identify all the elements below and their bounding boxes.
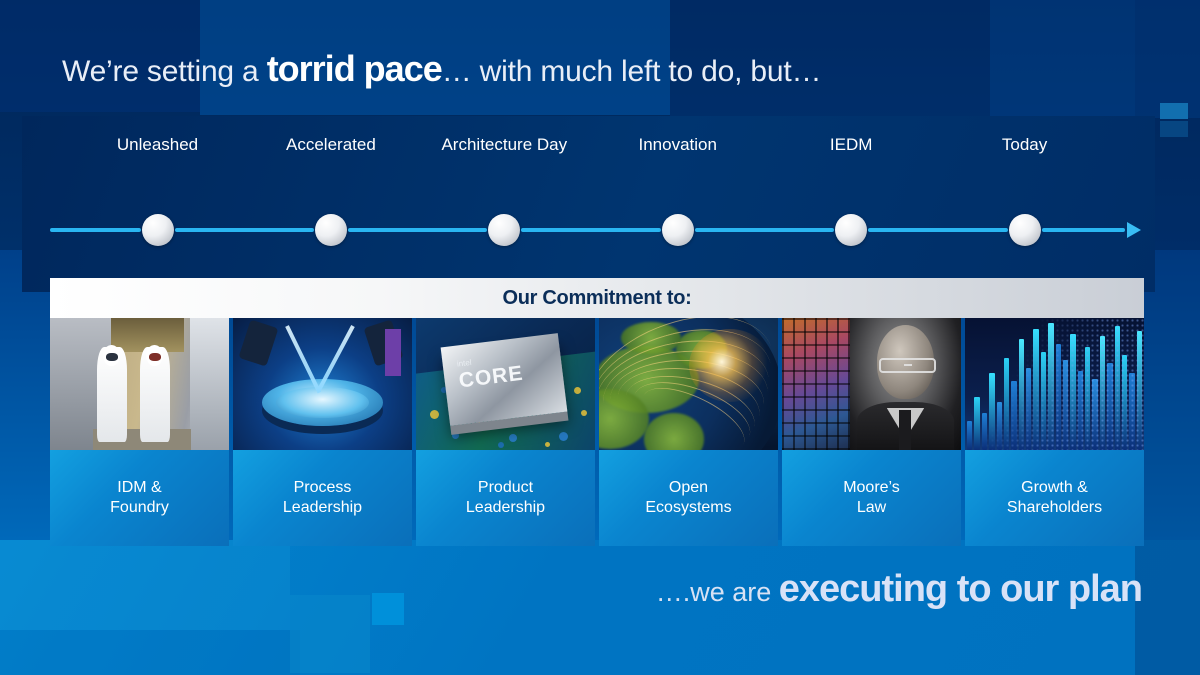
caption-line-1: IDM & [117, 479, 161, 496]
gordon-moore-portrait-photo [782, 318, 961, 450]
headline-prefix: We’re setting a [62, 55, 267, 88]
commitment-band: Our Commitment to: [50, 278, 1144, 318]
global-network-scene [599, 318, 778, 450]
fab-cleanroom-workers-photo [50, 318, 229, 450]
commitment-card-growth-5[interactable]: Growth &Shareholders [965, 318, 1144, 546]
growth-bar-chart-graphic [965, 318, 1144, 450]
commitment-card-caption: ProductLeadership [416, 450, 595, 546]
timeline-label-text: Innovation [639, 135, 717, 154]
timeline-segment [521, 228, 660, 232]
headline-suffix: … with much left to do, but… [442, 55, 822, 88]
timeline-label-accelerated[interactable]: Accelerated [246, 134, 416, 155]
timeline-label-architecture-day[interactable]: Architecture Day [419, 134, 589, 155]
footer-prefix: ….we are [656, 577, 779, 607]
timeline-segment [695, 228, 834, 232]
background-accent-square-large [290, 595, 370, 673]
commitment-card-moores-4[interactable]: Moore’sLaw [782, 318, 961, 546]
timeline-label-unleashed[interactable]: Unleashed [73, 134, 243, 155]
background-accent-square-small [372, 593, 404, 625]
caption-line-2: Leadership [466, 499, 545, 516]
caption-line-2: Shareholders [1007, 499, 1102, 516]
caption-line-1: Moore’s [843, 479, 900, 496]
caption-line-1: Process [294, 479, 352, 496]
timeline-label-text: Today [1002, 135, 1047, 154]
commitment-card-caption: ProcessLeadership [233, 450, 412, 546]
timeline-label-text: Unleashed [117, 135, 198, 154]
growth-chart-scene [965, 318, 1144, 450]
gordon-moore-portrait-scene [782, 318, 961, 450]
slide-root: We’re setting a torrid pace… with much l… [0, 0, 1200, 675]
timeline-dot-innovation[interactable] [662, 214, 694, 246]
arrow-right-icon [1127, 222, 1141, 238]
caption-line-2: Ecosystems [645, 499, 731, 516]
commitment-card-idm-0[interactable]: IDM &Foundry [50, 318, 229, 546]
caption-line-1: Growth & [1021, 479, 1088, 496]
commitment-card-caption: OpenEcosystems [599, 450, 778, 546]
timeline-panel: UnleashedAcceleratedArchitecture DayInno… [22, 116, 1155, 292]
timeline-dot-architecture-day[interactable] [488, 214, 520, 246]
caption-line-2: Leadership [283, 499, 362, 516]
timeline-dot-iedm[interactable] [835, 214, 867, 246]
timeline-segment-tail [1042, 228, 1125, 232]
wafer-litho-scene [233, 318, 412, 450]
headline-emphasis: torrid pace [267, 48, 442, 89]
commitment-card-caption: IDM &Foundry [50, 450, 229, 546]
commitment-band-title: Our Commitment to: [502, 287, 691, 310]
intel-core-processor-photo: intel CORE [416, 318, 595, 450]
commitment-card-process-1[interactable]: ProcessLeadership [233, 318, 412, 546]
timeline-segment [175, 228, 314, 232]
timeline-label-text: Architecture Day [441, 135, 567, 154]
timeline-segment [868, 228, 1007, 232]
caption-line-2: Foundry [110, 499, 169, 516]
caption-line-1: Product [478, 479, 533, 496]
fab-cleanroom-scene [50, 318, 229, 450]
timeline-dot-accelerated[interactable] [315, 214, 347, 246]
caption-line-1: Open [669, 479, 708, 496]
commitment-card-open-3[interactable]: OpenEcosystems [599, 318, 778, 546]
timeline-dot-unleashed[interactable] [142, 214, 174, 246]
commitment-card-product-2[interactable]: intel CORE ProductLeadership [416, 318, 595, 546]
footer-line: ….we are executing to our plan [656, 568, 1142, 611]
timeline-label-text: Accelerated [286, 135, 376, 154]
timeline-track [50, 228, 1139, 232]
commitment-card-grid: IDM &Foundry ProcessLeadership intel COR… [50, 318, 1144, 546]
commitment-card-caption: Moore’sLaw [782, 450, 961, 546]
background-block-bottom-left [0, 540, 290, 630]
timeline-label-innovation[interactable]: Innovation [593, 134, 763, 155]
commitment-card-caption: Growth &Shareholders [965, 450, 1144, 546]
caption-line-2: Law [857, 499, 886, 516]
background-block-right-edge [1135, 0, 1200, 675]
timeline-label-iedm[interactable]: IEDM [766, 134, 936, 155]
timeline-dot-today[interactable] [1009, 214, 1041, 246]
timeline-label-today[interactable]: Today [940, 134, 1110, 155]
background-block-bottom-left-lower [0, 630, 300, 675]
headline: We’re setting a torrid pace… with much l… [62, 48, 821, 90]
footer-emphasis: executing to our plan [779, 568, 1142, 610]
timeline-segment [50, 228, 141, 232]
wafer-lithography-photo [233, 318, 412, 450]
timeline-label-text: IEDM [830, 135, 873, 154]
intel-core-cpu-scene: intel CORE [416, 318, 595, 450]
global-network-globe-photo [599, 318, 778, 450]
timeline-segment [348, 228, 487, 232]
